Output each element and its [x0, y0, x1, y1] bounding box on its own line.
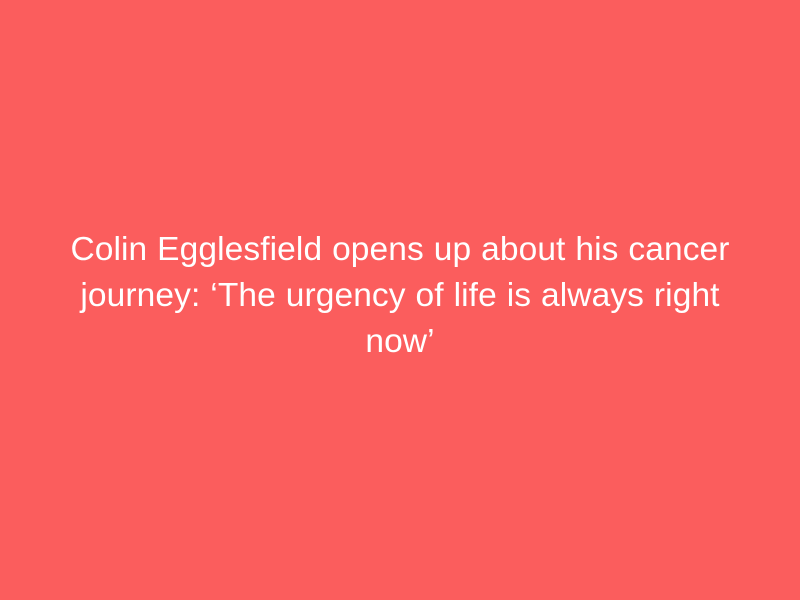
headline-block: Colin Egglesfield opens up about his can…	[70, 227, 730, 373]
headline-card: Colin Egglesfield opens up about his can…	[0, 0, 800, 600]
page-title: Colin Egglesfield opens up about his can…	[70, 227, 730, 365]
